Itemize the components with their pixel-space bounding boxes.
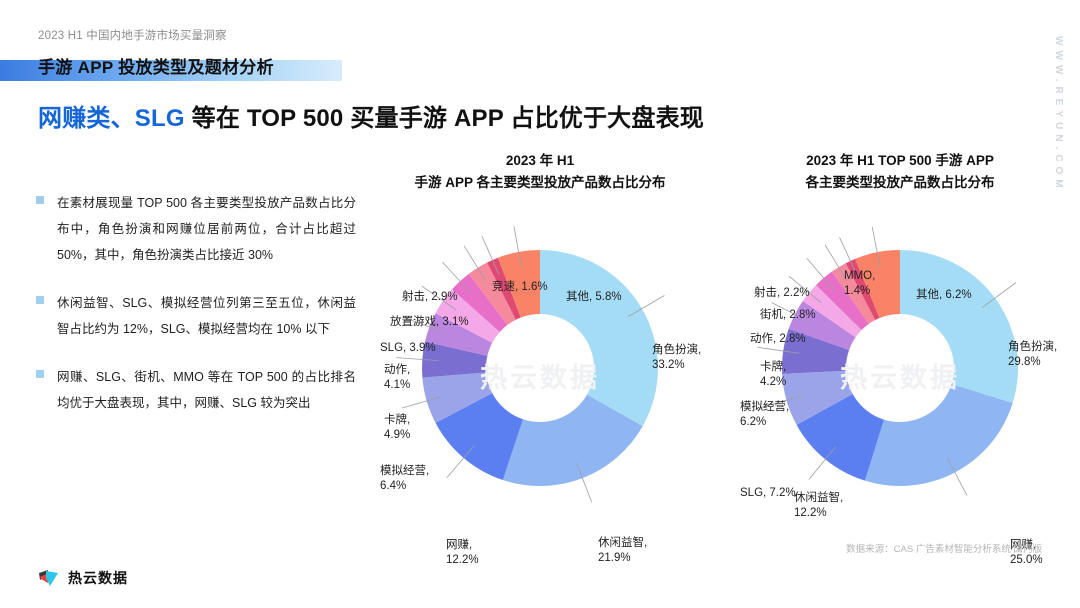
chart-title: 2023 年 H1 TOP 500 手游 APP 各主要类型投放产品数占比分布 (740, 150, 1060, 194)
pie-slice-label: 角色扮演,29.8% (1008, 340, 1057, 370)
list-item: 网赚、SLG、街机、MMO 等在 TOP 500 的占比排名均优于大盘表现，其中… (36, 364, 356, 416)
list-item-text: 网赚、SLG、街机、MMO 等在 TOP 500 的占比排名均优于大盘表现，其中… (57, 364, 356, 416)
pie-slice-label: 网赚,12.2% (446, 538, 479, 568)
pie-slice[interactable] (900, 250, 1018, 403)
pie-slice-label: 休闲益智,12.2% (794, 491, 843, 521)
pie-slice[interactable] (540, 250, 658, 426)
data-source-note: 数据来源：CAS 广告素材智能分析系统 国内版 (846, 541, 1042, 555)
bullet-marker-icon (36, 296, 44, 304)
pie-slice-label: 休闲益智,21.9% (598, 536, 647, 566)
brand-logo: 热云数据 (38, 568, 128, 588)
pie-slice-label: 其他, 6.2% (916, 288, 972, 303)
pie-slice-label-value: 4.1% (384, 378, 410, 393)
bullet-marker-icon (36, 370, 44, 378)
chart-overall-distribution: 2023 年 H1 手游 APP 各主要类型投放产品数占比分布 热云数据 角色扮… (380, 150, 700, 548)
pie-slice-label-value: 6.4% (380, 479, 429, 494)
pie-slice-label-value: 1.4% (844, 284, 875, 299)
pie-slice-label: 射击, 2.2% (754, 286, 810, 301)
list-item-text: 休闲益智、SLG、模拟经营位列第三至五位，休闲益智占比约为 12%，SLG、模拟… (57, 290, 356, 342)
pie-slice-label-value: 4.2% (760, 375, 786, 390)
pie-slice-label: SLG, 3.9% (380, 341, 436, 356)
chart-title-line1: 2023 年 H1 (380, 150, 700, 172)
chart-title-line2: 手游 APP 各主要类型投放产品数占比分布 (380, 172, 700, 194)
page-headline: 网赚类、SLG 等在 TOP 500 买量手游 APP 占比优于大盘表现 (38, 98, 704, 133)
chart-title: 2023 年 H1 手游 APP 各主要类型投放产品数占比分布 (380, 150, 700, 194)
list-item: 休闲益智、SLG、模拟经营位列第三至五位，休闲益智占比约为 12%，SLG、模拟… (36, 290, 356, 342)
pie-slice[interactable] (865, 384, 1013, 486)
insights-list: 在素材展现量 TOP 500 各主要类型投放产品数占比分布中，角色扮演和网赚位居… (36, 190, 356, 438)
donut-chart-area: 热云数据 角色扮演,29.8%网赚,25.0%休闲益智,12.2%SLG, 7.… (740, 208, 1060, 548)
pie-slice-label-value: 33.2% (652, 358, 701, 373)
donut-chart-svg (380, 208, 700, 548)
headline-rest: 等在 TOP 500 买量手游 APP 占比优于大盘表现 (185, 105, 704, 132)
report-kicker: 2023 H1 中国内地手游市场买量洞察 (38, 27, 227, 43)
pie-slice-label-value: 21.9% (598, 551, 647, 566)
list-item-text: 在素材展现量 TOP 500 各主要类型投放产品数占比分布中，角色扮演和网赚位居… (57, 190, 356, 268)
pie-slice-label: 模拟经营,6.4% (380, 464, 429, 494)
pie-slice-label-value: 25.0% (1010, 553, 1043, 568)
pie-slice-label: 放置游戏, 3.1% (390, 315, 469, 330)
pie-slice-label: SLG, 7.2% (740, 486, 796, 501)
brand-name: 热云数据 (68, 568, 128, 588)
chart-title-line1: 2023 年 H1 TOP 500 手游 APP (740, 150, 1060, 172)
chart-top500-distribution: 2023 年 H1 TOP 500 手游 APP 各主要类型投放产品数占比分布 … (740, 150, 1060, 548)
pie-slice-label-value: 29.8% (1008, 355, 1057, 370)
section-title: 手游 APP 投放类型及题材分析 (38, 53, 274, 78)
pie-slice-label-value: 12.2% (446, 553, 479, 568)
donut-chart-area: 热云数据 角色扮演,33.2%休闲益智,21.9%网赚,12.2%模拟经营,6.… (380, 208, 700, 548)
pie-slice-label-value: 4.9% (384, 428, 410, 443)
pie-slice-label: 卡牌,4.9% (384, 413, 410, 443)
pie-slice-label-value: 6.2% (740, 415, 789, 430)
reyun-logo-icon (38, 568, 60, 588)
headline-highlight: 网赚类、SLG (38, 105, 185, 132)
pie-slice-label: 角色扮演,33.2% (652, 343, 701, 373)
pie-slice-label: 模拟经营,6.2% (740, 400, 789, 430)
pie-slice-label: 动作,4.1% (384, 363, 410, 393)
pie-slice-label: 卡牌,4.2% (760, 360, 786, 390)
pie-slice-label-value: 12.2% (794, 506, 843, 521)
pie-slice-label: 其他, 5.8% (566, 290, 622, 305)
pie-slice-label: MMO,1.4% (844, 269, 875, 299)
pie-slice-label: 射击, 2.9% (402, 290, 458, 305)
chart-title-line2: 各主要类型投放产品数占比分布 (740, 172, 1060, 194)
pie-slice-label: 竞速, 1.6% (492, 280, 548, 295)
pie-slice-label: 动作, 2.8% (750, 332, 806, 347)
bullet-marker-icon (36, 196, 44, 204)
pie-slice-label: 街机, 2.8% (760, 308, 816, 323)
list-item: 在素材展现量 TOP 500 各主要类型投放产品数占比分布中，角色扮演和网赚位居… (36, 190, 356, 268)
